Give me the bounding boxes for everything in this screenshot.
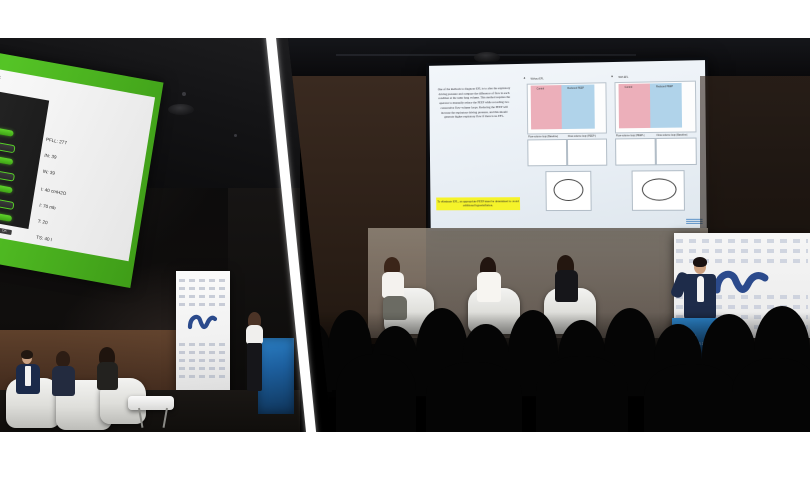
photo-band: Mask & Parameter Settings Cough Settings…: [0, 38, 810, 432]
left-rollup-banner: [176, 271, 230, 395]
wave-logo-icon: [712, 265, 770, 299]
micro-plot: [527, 139, 567, 166]
left-standing-speaker: [243, 314, 269, 398]
screen-value-5: T: 20: [37, 219, 48, 226]
chart-b-region-label-control: Control: [625, 86, 633, 89]
audience-silhouette-front: [336, 354, 416, 432]
slide-highlight-text: To eliminate EFL, an appropriate PEEP mu…: [436, 197, 520, 210]
slide-panel-b-label: B: [611, 76, 613, 78]
right-wall-right: [700, 76, 810, 246]
table-leg: [163, 408, 168, 428]
audience-silhouette-front: [732, 358, 810, 432]
audience-silhouette-front: [536, 356, 628, 432]
chart-b-region-label-peep: Reduced PEEP: [656, 85, 673, 88]
screen-value-3: I: 40 cmH2O: [41, 187, 67, 197]
screenshot-root: Mask & Parameter Settings Cough Settings…: [0, 0, 810, 480]
chart-b-peep-region: [650, 83, 682, 128]
slide-body-text: One of the methods to diagnose EFL is to…: [436, 86, 512, 120]
chart-a-region-label-peep: Reduced PEEP: [567, 87, 584, 90]
micro-plot: [615, 138, 656, 166]
screen-value-1: IN: 39: [44, 153, 57, 160]
ceiling-light-dot: [182, 92, 186, 96]
screen-value-4: I: 70 mb: [39, 203, 56, 211]
loop-curve: [553, 179, 583, 201]
left-seated-panel: [0, 338, 180, 432]
top-margin: [0, 0, 810, 38]
micro-plot: [567, 139, 607, 166]
ceiling-speaker-icon: [168, 104, 194, 115]
screen-value-0: PFLL: 277: [46, 137, 68, 146]
chart-a-region-label-control: Control: [537, 87, 545, 90]
micro-plot-caption: Flow-volume loop (Baseline): [657, 134, 688, 137]
slide-panel-b-title: With EFL: [618, 76, 628, 79]
ceiling-light-dot: [234, 134, 237, 137]
presentation-slide: One of the methods to diagnose EFL is to…: [429, 60, 707, 228]
micro-plot-caption: Flow-volume loop (PEEP-): [568, 135, 596, 138]
micro-plot-caption: Flow-volume loop (PEEP-): [616, 134, 645, 137]
screen-ok-button[interactable]: OK: [0, 227, 12, 235]
left-photo-panel: Mask & Parameter Settings Cough Settings…: [0, 38, 300, 432]
right-photo-panel: One of the methods to diagnose EFL is to…: [276, 38, 810, 432]
screen-ok-label: OK: [0, 227, 12, 235]
screen-value-2: IN: 39: [42, 169, 55, 176]
slide-panel-a-label: A: [524, 78, 526, 80]
bottom-margin: [0, 432, 810, 480]
chart-a-control-region: [531, 85, 562, 129]
slide-panel-a-title: Without EFL: [531, 77, 544, 80]
right-projection-screen: One of the methods to diagnose EFL is to…: [426, 57, 710, 231]
micro-plot: [656, 138, 697, 166]
wave-logo-icon: [187, 311, 219, 333]
audience-silhouette-front: [426, 362, 522, 432]
micro-plot-caption: Flow-volume loop (Baseline): [528, 135, 558, 138]
loop-curve: [642, 178, 677, 200]
chart-b-control-region: [619, 83, 651, 128]
audience-silhouette-front: [644, 364, 738, 432]
screen-value-6: TS: 40 l: [36, 235, 52, 243]
chart-a-peep-region: [561, 84, 594, 129]
